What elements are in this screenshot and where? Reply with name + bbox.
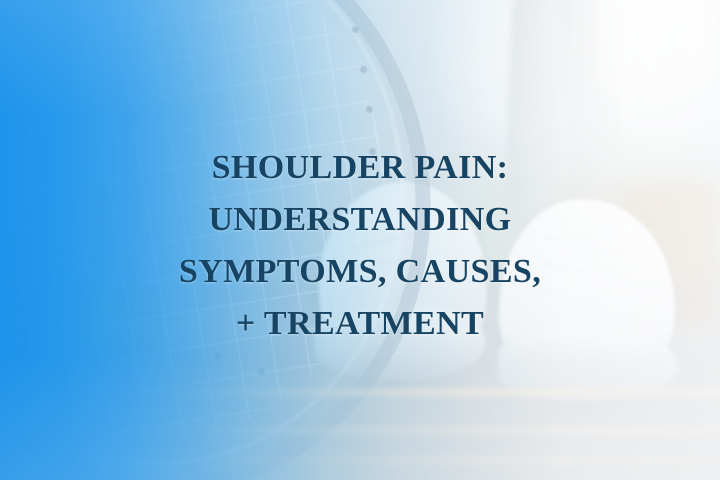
- banner-title: SHOULDER PAIN: UNDERSTANDING SYMPTOMS, C…: [0, 142, 720, 350]
- title-line-1: SHOULDER PAIN:: [0, 142, 720, 194]
- title-line-3: SYMPTOMS, CAUSES,: [0, 246, 720, 298]
- title-line-2: UNDERSTANDING: [0, 194, 720, 246]
- title-line-4: + TREATMENT: [0, 298, 720, 350]
- blog-header-banner: SHOULDER PAIN: UNDERSTANDING SYMPTOMS, C…: [0, 0, 720, 480]
